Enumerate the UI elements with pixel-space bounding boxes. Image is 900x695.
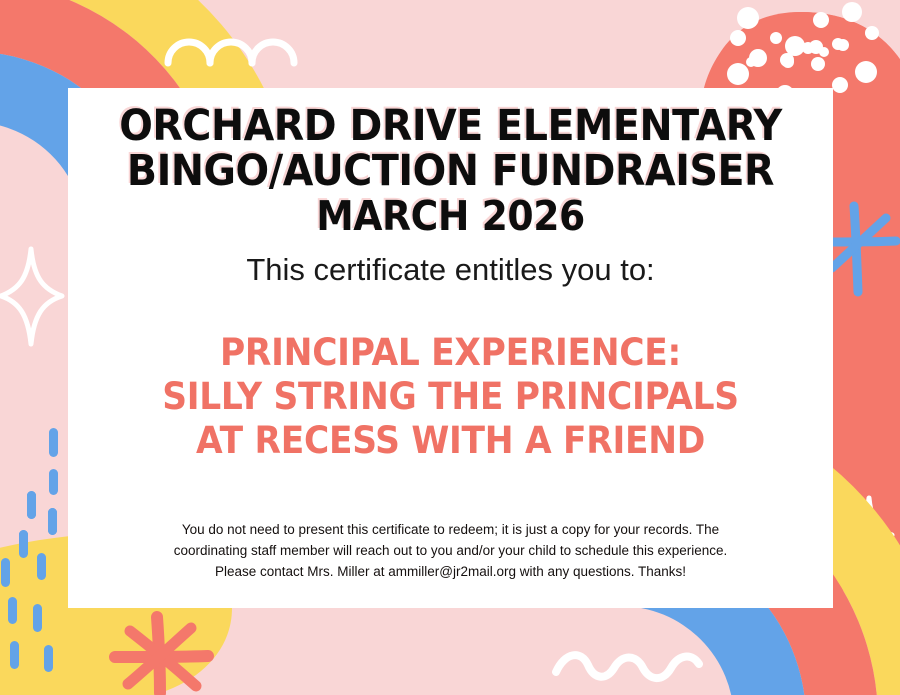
fine-print-line-3: Please contact Mrs. Miller at ammiller@j… bbox=[138, 561, 763, 582]
white-dot bbox=[780, 53, 794, 67]
title-line-2: BINGO/AUCTION FUNDRAISER bbox=[99, 149, 803, 194]
white-dot bbox=[811, 57, 825, 71]
white-dot bbox=[749, 49, 767, 67]
white-dot bbox=[832, 38, 844, 50]
white-dot bbox=[809, 43, 819, 53]
blue-dash bbox=[48, 508, 57, 535]
white-dot bbox=[855, 61, 877, 83]
white-dot bbox=[837, 39, 849, 51]
blue-dash bbox=[8, 597, 17, 624]
blue-dash bbox=[37, 553, 46, 580]
coral-starburst-icon bbox=[115, 617, 208, 693]
blue-dash bbox=[49, 469, 58, 495]
blue-dash bbox=[48, 508, 57, 535]
blue-dash bbox=[19, 530, 28, 558]
certificate-page: ORCHARD DRIVE ELEMENTARY BINGO/AUCTION F… bbox=[0, 0, 900, 695]
blue-dash bbox=[27, 491, 36, 519]
blue-dash bbox=[27, 491, 36, 519]
white-dot bbox=[802, 42, 814, 54]
blue-dash bbox=[44, 645, 53, 672]
blue-dash bbox=[49, 428, 58, 457]
award-block: PRINCIPAL EXPERIENCE: SILLY STRING THE P… bbox=[68, 331, 833, 463]
white-dot bbox=[737, 7, 759, 29]
sub-heading: This certificate entitles you to: bbox=[246, 253, 654, 287]
blue-dash bbox=[33, 604, 42, 632]
white-sparkle-right-icon bbox=[846, 498, 892, 572]
white-sparkle-accent-icon bbox=[848, 534, 890, 586]
title-line-1: ORCHARD DRIVE ELEMENTARY bbox=[99, 104, 803, 149]
blue-dash-scatter bbox=[1, 428, 58, 695]
white-scallop-arches-icon bbox=[168, 42, 294, 63]
award-line-1: PRINCIPAL EXPERIENCE: bbox=[95, 331, 806, 375]
fine-print-line-2: coordinating staff member will reach out… bbox=[138, 540, 763, 561]
blue-dash-scatter-over-yellow bbox=[1, 491, 57, 672]
white-dot bbox=[865, 26, 879, 40]
white-dot bbox=[727, 63, 749, 85]
white-dot bbox=[782, 56, 794, 68]
white-sparkle-left-icon bbox=[1, 249, 62, 344]
white-dot bbox=[770, 32, 782, 44]
blue-starburst-icon bbox=[828, 206, 896, 292]
white-dot bbox=[842, 2, 862, 22]
blue-dash bbox=[1, 558, 10, 587]
blue-dash bbox=[8, 597, 17, 624]
blue-dash bbox=[33, 604, 42, 632]
award-line-2: SILLY STRING THE PRINCIPALS bbox=[95, 375, 806, 419]
title-line-3: MARCH 2026 bbox=[99, 194, 803, 239]
white-dot bbox=[809, 40, 823, 54]
blue-dash bbox=[44, 645, 53, 672]
fine-print: You do not need to present this certific… bbox=[138, 519, 763, 582]
white-dot bbox=[832, 77, 848, 93]
white-squiggle-icon bbox=[556, 655, 699, 678]
certificate-card: ORCHARD DRIVE ELEMENTARY BINGO/AUCTION F… bbox=[68, 88, 833, 608]
blue-dash bbox=[41, 676, 50, 695]
white-dot bbox=[730, 30, 746, 46]
blue-dash bbox=[10, 641, 19, 669]
blue-dash bbox=[10, 641, 19, 669]
blue-dash bbox=[37, 553, 46, 580]
fine-print-line-1: You do not need to present this certific… bbox=[138, 519, 763, 540]
bottom-left-yellow-blob-lower bbox=[0, 608, 232, 695]
award-line-3: AT RECESS WITH A FRIEND bbox=[95, 419, 806, 463]
white-dot bbox=[811, 41, 821, 51]
white-dot bbox=[819, 47, 829, 57]
title-block: ORCHARD DRIVE ELEMENTARY BINGO/AUCTION F… bbox=[68, 104, 833, 239]
white-dot bbox=[813, 12, 829, 28]
white-dot bbox=[746, 57, 756, 67]
blue-dash bbox=[1, 558, 10, 587]
blue-dash bbox=[19, 530, 28, 558]
white-dot bbox=[785, 36, 805, 56]
coral-blob-stem bbox=[838, 240, 900, 592]
